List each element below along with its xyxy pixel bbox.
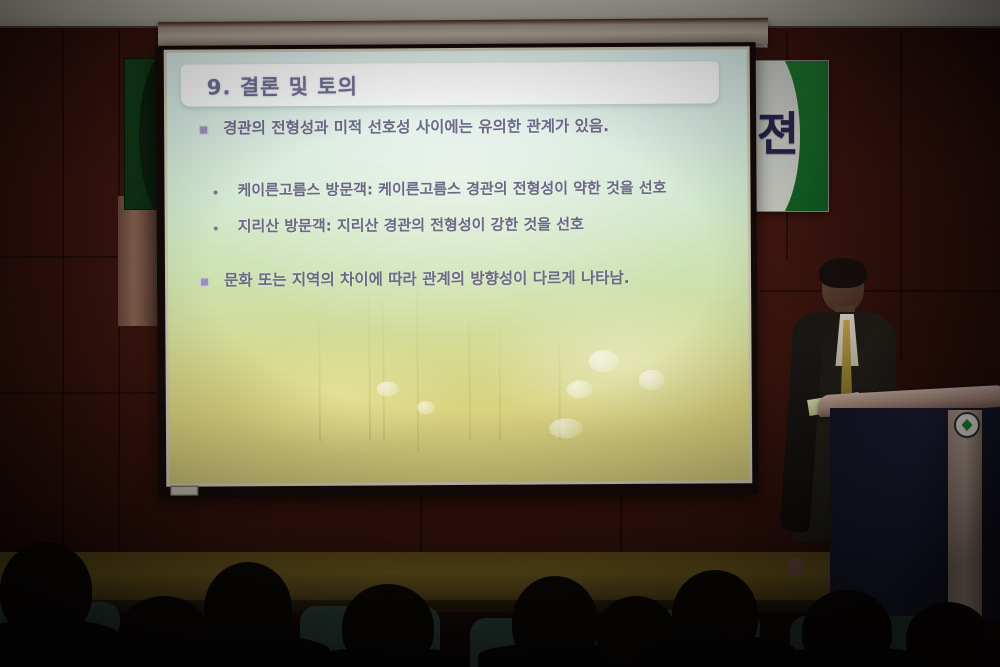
dot-bullet-icon xyxy=(214,190,218,194)
dew-drop xyxy=(639,370,665,390)
spacer xyxy=(181,151,729,180)
audience-head xyxy=(906,602,990,667)
grass-blade xyxy=(318,302,321,442)
dew-drop xyxy=(588,350,618,372)
dot-bullet-icon xyxy=(214,226,218,230)
dew-drop xyxy=(417,401,435,414)
bullet-text: 케이른고름스 방문객: 케이른고름스 경관의 전형성이 약한 것을 선호 xyxy=(237,177,729,200)
dew-drop xyxy=(549,418,583,438)
podium-emblem-icon xyxy=(954,412,980,438)
dew-drop xyxy=(567,380,593,398)
wall-seam xyxy=(62,30,64,560)
bullet-item: 문화 또는 지역의 차이에 따라 관계의 방향성이 다르게 나타남. xyxy=(182,267,730,304)
audience-shoulders xyxy=(770,648,930,667)
banner-support-pole xyxy=(118,196,158,326)
bullet-text: 지리산 방문객: 지리산 경관의 전형성이 강한 것을 선호 xyxy=(238,213,730,236)
bullet-item: 케이른고름스 방문객: 케이른고름스 경관의 전형성이 약한 것을 선호 xyxy=(181,177,729,210)
audience-shoulders xyxy=(170,636,330,667)
screen-pull-tab xyxy=(170,486,198,496)
grass-blade xyxy=(498,311,501,441)
square-bullet-icon xyxy=(200,278,209,287)
slide: 9. 결론 및 토의 경관의 전형성과 미적 선호성 사이에는 유의한 관계가 … xyxy=(167,49,750,484)
slide-title-bar: 9. 결론 및 토의 xyxy=(181,61,719,106)
banner-glyph: 젼 xyxy=(752,99,804,169)
grass-blade xyxy=(468,291,471,441)
bullet-item: 경관의 전형성과 미적 선호성 사이에는 유의한 관계가 있음. xyxy=(181,115,729,152)
dew-drop xyxy=(377,381,399,396)
wall-seam xyxy=(620,495,622,560)
bullet-text: 문화 또는 지역의 차이에 따라 관계의 방향성이 다르게 나타남. xyxy=(224,267,730,291)
square-bullet-icon xyxy=(199,126,208,135)
bullet-text: 경관의 전형성과 미적 선호성 사이에는 유의한 관계가 있음. xyxy=(223,115,729,139)
wall-seam xyxy=(0,392,160,394)
bullet-item: 지리산 방문객: 지리산 경관의 전형성이 강한 것을 선호 xyxy=(182,213,730,246)
glasses-icon xyxy=(823,277,851,285)
projection-screen-frame: 9. 결론 및 토의 경관의 전형성과 미적 선호성 사이에는 유의한 관계가 … xyxy=(156,42,759,498)
speaker-hand xyxy=(788,558,804,576)
slide-body: 경관의 전형성과 미적 선호성 사이에는 유의한 관계가 있음. 케이른고름스 … xyxy=(181,115,730,306)
wall-seam xyxy=(420,495,422,560)
podium-side-strip xyxy=(948,410,982,620)
leaf-diamond-icon xyxy=(962,419,973,431)
banner-right: 젼 xyxy=(745,60,829,212)
slide-title: 9. 결론 및 토의 xyxy=(207,71,358,102)
projection-screen-surface: 9. 결론 및 토의 경관의 전형성과 미적 선호성 사이에는 유의한 관계가 … xyxy=(164,46,753,487)
presentation-photo-scene: 젼 9. 결 xyxy=(0,0,1000,667)
audience-shoulders xyxy=(312,648,464,667)
